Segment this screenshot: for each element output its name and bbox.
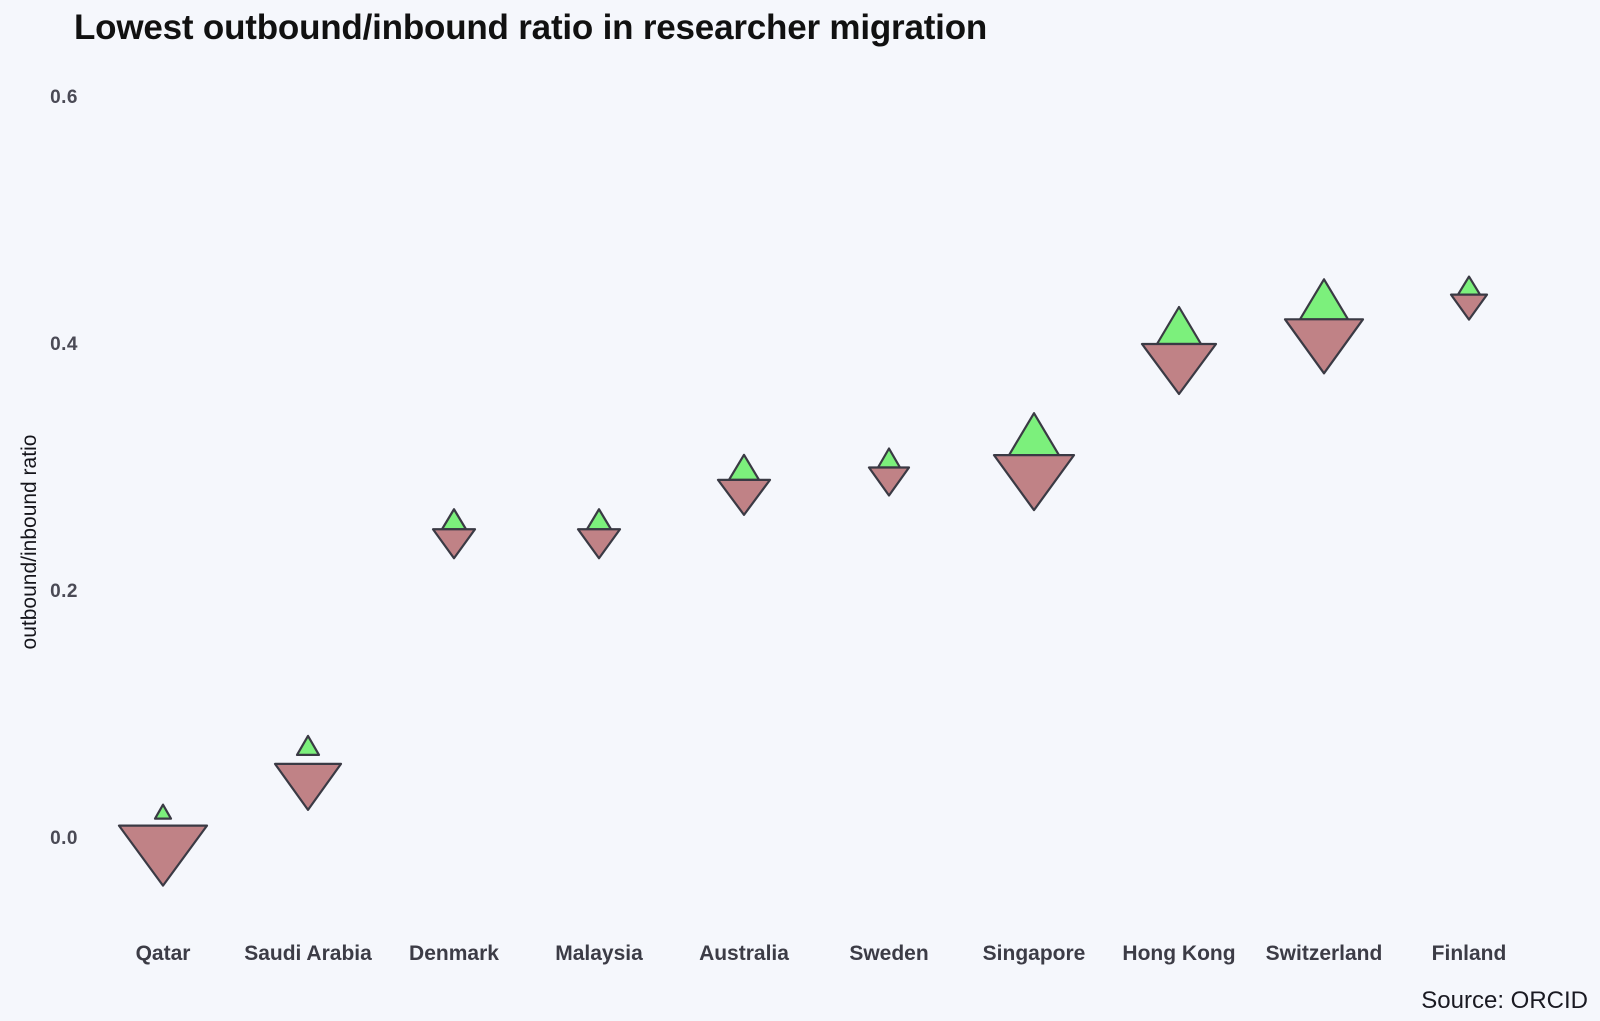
data-point-marker (1142, 307, 1216, 394)
inbound-marker-triangle (297, 736, 319, 755)
data-point-marker (994, 413, 1074, 510)
page-title: Lowest outbound/inbound ratio in researc… (74, 8, 987, 48)
outbound-marker-triangle (718, 480, 770, 515)
x-tick-label: Saudi Arabia (244, 942, 372, 966)
x-tick-label: Qatar (136, 942, 191, 966)
data-point-marker (433, 509, 475, 558)
inbound-marker-triangle (1458, 277, 1480, 295)
outbound-marker-triangle (578, 529, 620, 558)
x-tick-label: Denmark (409, 942, 499, 966)
data-point-marker (718, 455, 770, 515)
outbound-marker-triangle (275, 764, 341, 810)
x-tick-label: Malaysia (555, 942, 643, 966)
x-tick-label: Singapore (983, 942, 1086, 966)
data-point-marker (119, 805, 207, 886)
inbound-marker-triangle (1300, 279, 1348, 319)
y-tick-label: 0.4 (18, 334, 78, 356)
outbound-marker-triangle (1285, 319, 1363, 373)
x-tick-label: Sweden (849, 942, 928, 966)
y-tick-label: 0.6 (18, 87, 78, 109)
x-tick-label: Finland (1432, 942, 1507, 966)
inbound-marker-triangle (878, 449, 900, 468)
x-tick-label: Australia (699, 942, 789, 966)
inbound-marker-triangle (729, 455, 759, 480)
data-point-marker (1285, 279, 1363, 373)
outbound-marker-triangle (869, 468, 909, 496)
source-annotation: Source: ORCID (1421, 987, 1588, 1015)
data-point-marker (1451, 277, 1487, 320)
data-markers (119, 277, 1487, 886)
inbound-marker-triangle (587, 509, 611, 529)
y-axis-title: outbound/inbound ratio (18, 422, 42, 662)
outbound-marker-triangle (1142, 344, 1216, 394)
inbound-marker-triangle (155, 805, 171, 819)
inbound-marker-triangle (1157, 307, 1201, 344)
outbound-marker-triangle (433, 529, 475, 558)
data-point-marker (275, 736, 341, 810)
outbound-marker-triangle (994, 455, 1074, 510)
chart-figure: Lowest outbound/inbound ratio in researc… (0, 0, 1600, 1021)
data-point-marker (869, 449, 909, 496)
data-point-marker (578, 509, 620, 558)
inbound-marker-triangle (1009, 413, 1059, 455)
outbound-marker-triangle (119, 826, 207, 886)
y-tick-label: 0.0 (18, 828, 78, 850)
x-tick-label: Hong Kong (1122, 942, 1235, 966)
outbound-marker-triangle (1451, 295, 1487, 320)
plot-area (0, 0, 1600, 1021)
x-tick-label: Switzerland (1266, 942, 1383, 966)
inbound-marker-triangle (442, 509, 466, 529)
